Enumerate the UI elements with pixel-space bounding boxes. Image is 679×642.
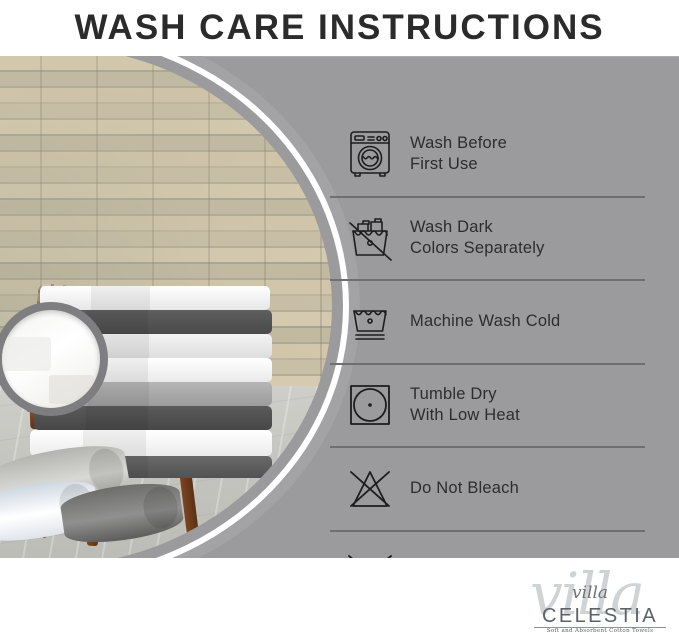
logo-tagline: Soft and Absorbent Cotton Towels <box>530 628 670 634</box>
content-panel: Wash Before First Use Wash Dark Colors S… <box>0 56 679 558</box>
do-not-iron-icon <box>330 542 410 558</box>
care-row-label: Do Not Bleach <box>410 478 519 499</box>
care-row-do-not-iron: Do Not Iron <box>330 530 645 559</box>
machine-wash-cold-icon <box>330 292 410 352</box>
product-photo <box>0 56 332 558</box>
logo-brand-name: CELESTIA <box>530 605 670 628</box>
wash-separately-icon <box>330 208 410 268</box>
care-row-wash-before-first-use: Wash Before First Use <box>330 112 645 196</box>
page-title: WASH CARE INSTRUCTIONS <box>74 8 604 48</box>
care-instruction-list: Wash Before First Use Wash Dark Colors S… <box>330 112 645 558</box>
brand-logo: villa villa CELESTIA Soft and Absorbent … <box>524 563 674 637</box>
washing-machine-icon <box>330 124 410 184</box>
tumble-dry-low-icon <box>330 375 410 435</box>
magnifier-circle <box>0 302 108 416</box>
care-row-label: Wash Dark Colors Separately <box>410 217 545 259</box>
care-row-machine-wash-cold: Machine Wash Cold <box>330 279 645 363</box>
care-row-label: Tumble Dry With Low Heat <box>410 384 520 426</box>
care-row-wash-dark-separately: Wash Dark Colors Separately <box>330 196 645 280</box>
page-title-bar: WASH CARE INSTRUCTIONS <box>0 0 679 56</box>
care-row-do-not-bleach: Do Not Bleach <box>330 446 645 530</box>
care-row-label: Machine Wash Cold <box>410 311 560 332</box>
do-not-bleach-icon <box>330 459 410 519</box>
logo-brand-script: villa <box>572 583 608 603</box>
care-row-label: Wash Before First Use <box>410 133 507 175</box>
care-row-tumble-dry-low: Tumble Dry With Low Heat <box>330 363 645 447</box>
